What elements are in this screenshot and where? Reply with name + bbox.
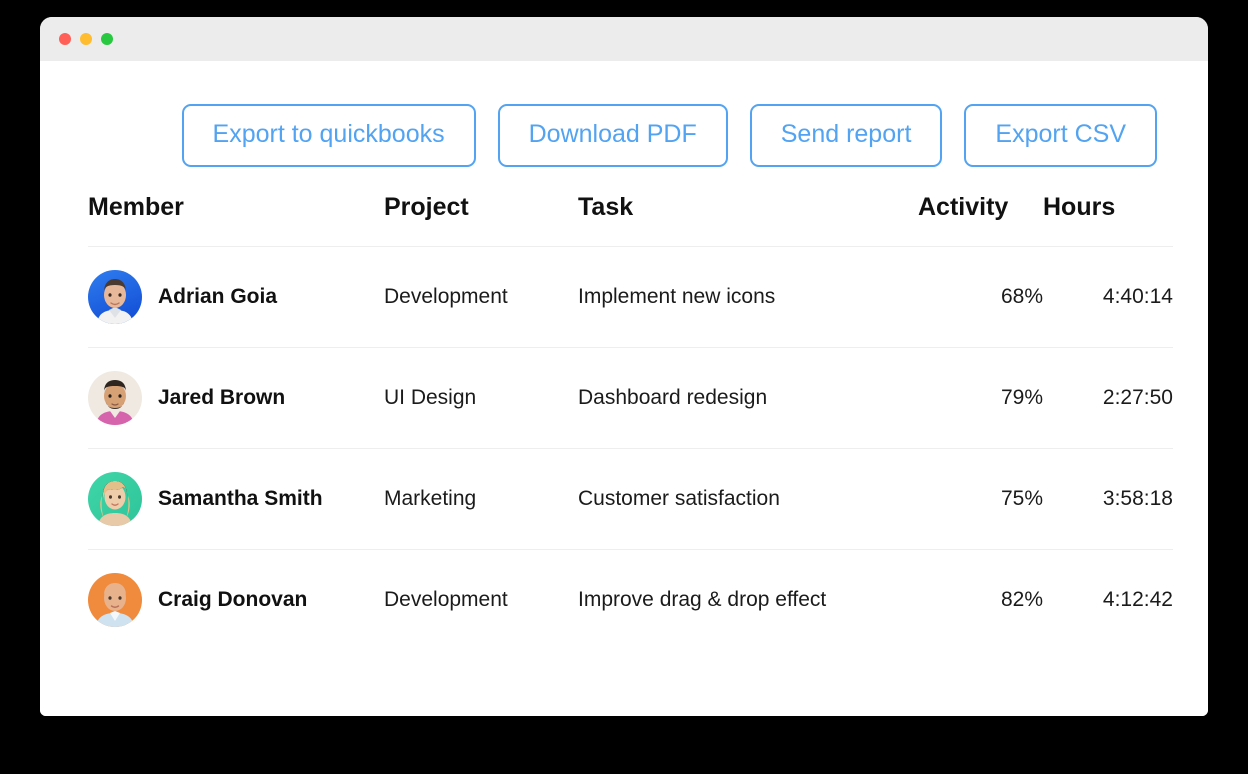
cell-member: Jared Brown — [88, 348, 384, 449]
member-cell: Craig Donovan — [88, 573, 384, 627]
member-name: Adrian Goia — [158, 285, 277, 309]
cell-hours: 3:58:18 — [1043, 449, 1173, 550]
avatar-samantha-smith — [88, 472, 142, 526]
column-header-hours[interactable]: Hours — [1043, 193, 1173, 247]
avatar-craig-donovan — [88, 573, 142, 627]
table-header: Member Project Task Activity Hours — [88, 193, 1173, 247]
maximize-window-button[interactable] — [101, 33, 113, 45]
table-row[interactable]: Jared Brown UI Design Dashboard redesign… — [88, 348, 1173, 449]
column-header-task[interactable]: Task — [578, 193, 918, 247]
table-row[interactable]: Adrian Goia Development Implement new ic… — [88, 247, 1173, 348]
table-row[interactable]: Craig Donovan Development Improve drag &… — [88, 550, 1173, 651]
member-name: Jared Brown — [158, 386, 285, 410]
download-pdf-button[interactable]: Download PDF — [498, 104, 728, 167]
cell-activity: 75% — [918, 449, 1043, 550]
cell-hours: 4:40:14 — [1043, 247, 1173, 348]
member-cell: Adrian Goia — [88, 270, 384, 324]
column-header-activity[interactable]: Activity — [918, 193, 1043, 247]
window-titlebar — [40, 17, 1208, 61]
column-header-member[interactable]: Member — [88, 193, 384, 247]
cell-activity: 68% — [918, 247, 1043, 348]
time-tracking-table: Member Project Task Activity Hours — [88, 193, 1173, 651]
member-cell: Samantha Smith — [88, 472, 384, 526]
send-report-button[interactable]: Send report — [750, 104, 943, 167]
export-csv-button[interactable]: Export CSV — [964, 104, 1157, 167]
cell-activity: 79% — [918, 348, 1043, 449]
member-cell: Jared Brown — [88, 371, 384, 425]
cell-project: Marketing — [384, 449, 578, 550]
cell-project: Development — [384, 550, 578, 651]
cell-task: Improve drag & drop effect — [578, 550, 918, 651]
window-content: Export to quickbooks Download PDF Send r… — [40, 61, 1208, 716]
cell-member: Adrian Goia — [88, 247, 384, 348]
export-toolbar: Export to quickbooks Download PDF Send r… — [40, 61, 1208, 167]
member-name: Samantha Smith — [158, 487, 323, 511]
avatar-adrian-goia — [88, 270, 142, 324]
table-row[interactable]: Samantha Smith Marketing Customer satisf… — [88, 449, 1173, 550]
table-header-row: Member Project Task Activity Hours — [88, 193, 1173, 247]
cell-activity: 82% — [918, 550, 1043, 651]
close-window-button[interactable] — [59, 33, 71, 45]
cell-hours: 4:12:42 — [1043, 550, 1173, 651]
cell-project: UI Design — [384, 348, 578, 449]
cell-member: Craig Donovan — [88, 550, 384, 651]
avatar-jared-brown — [88, 371, 142, 425]
cell-project: Development — [384, 247, 578, 348]
export-to-quickbooks-button[interactable]: Export to quickbooks — [182, 104, 476, 167]
cell-hours: 2:27:50 — [1043, 348, 1173, 449]
page-root: Export to quickbooks Download PDF Send r… — [0, 0, 1248, 774]
column-header-project[interactable]: Project — [384, 193, 578, 247]
cell-task: Customer satisfaction — [578, 449, 918, 550]
table-body: Adrian Goia Development Implement new ic… — [88, 247, 1173, 651]
minimize-window-button[interactable] — [80, 33, 92, 45]
cell-member: Samantha Smith — [88, 449, 384, 550]
cell-task: Implement new icons — [578, 247, 918, 348]
member-name: Craig Donovan — [158, 588, 307, 612]
browser-window: Export to quickbooks Download PDF Send r… — [40, 17, 1208, 716]
cell-task: Dashboard redesign — [578, 348, 918, 449]
